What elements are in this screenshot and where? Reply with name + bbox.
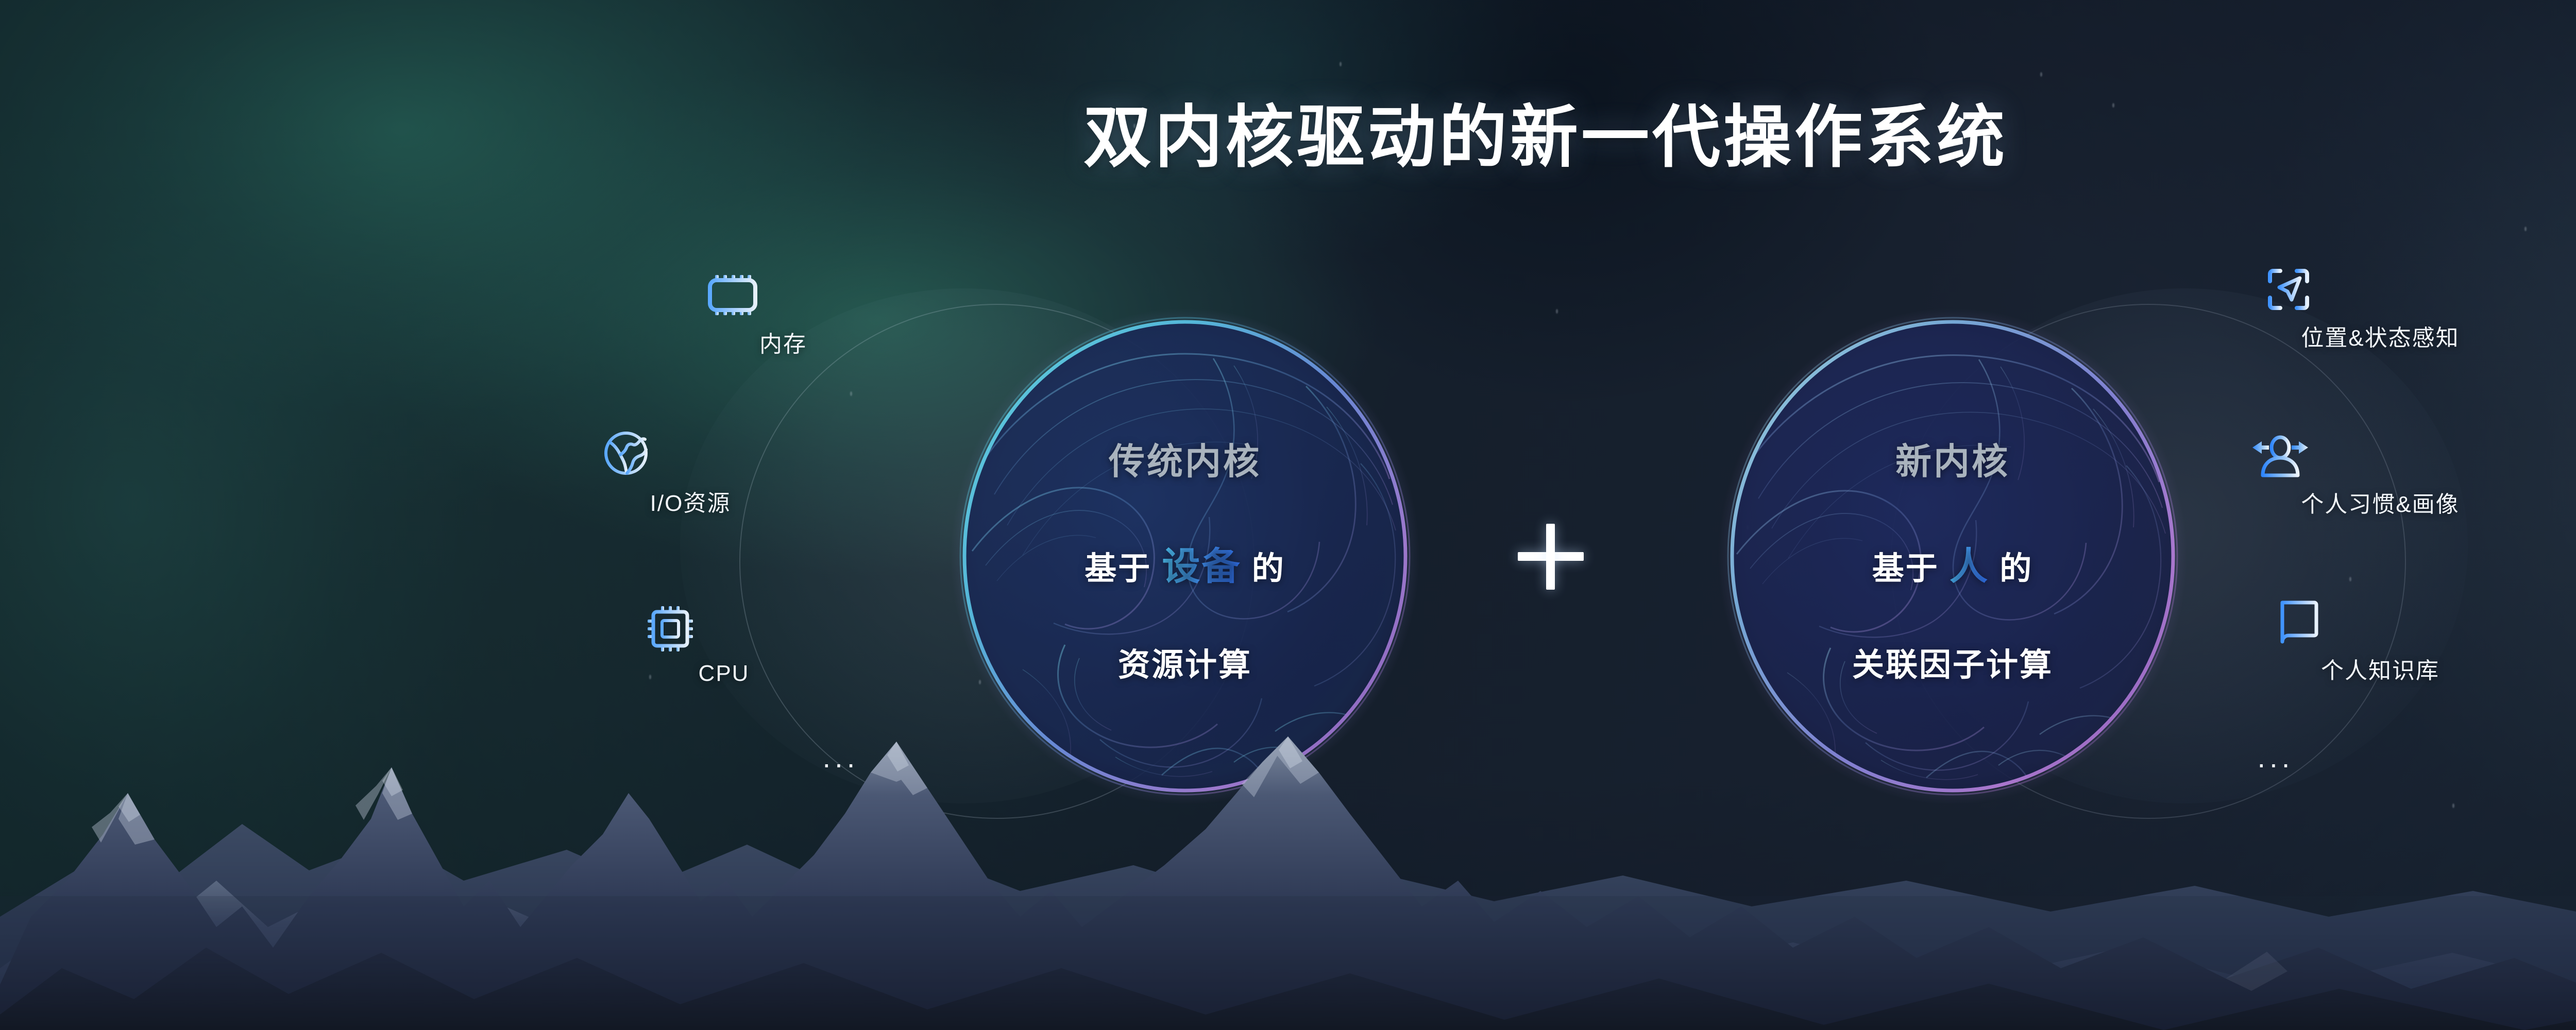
hero-banner: 双内核驱动的新一代操作系统 <box>0 0 2576 1030</box>
capability-label: 位置&状态感知 <box>2301 325 2459 351</box>
capability-label: 个人习惯&画像 <box>2301 492 2459 517</box>
capability-label: 内存 <box>759 332 807 357</box>
location-scan-icon <box>2267 268 2494 311</box>
capability-memory[interactable]: 内存 <box>706 273 860 358</box>
book-knowledge-icon <box>2277 597 2483 644</box>
capability-location-state[interactable]: 位置&状态感知 <box>2267 268 2494 352</box>
memory-chip-icon <box>706 273 860 317</box>
mountain-range <box>0 639 2576 1030</box>
capability-label: I/O资源 <box>650 491 731 516</box>
globe-network-icon <box>603 430 778 476</box>
page-title: 双内核驱动的新一代操作系统 <box>0 82 2576 181</box>
capability-user-profile[interactable]: 个人习惯&画像 <box>2251 435 2509 519</box>
capability-io[interactable]: I/O资源 <box>603 430 778 518</box>
plus-operator-icon <box>1510 515 1592 597</box>
user-behavior-icon <box>2251 435 2509 477</box>
